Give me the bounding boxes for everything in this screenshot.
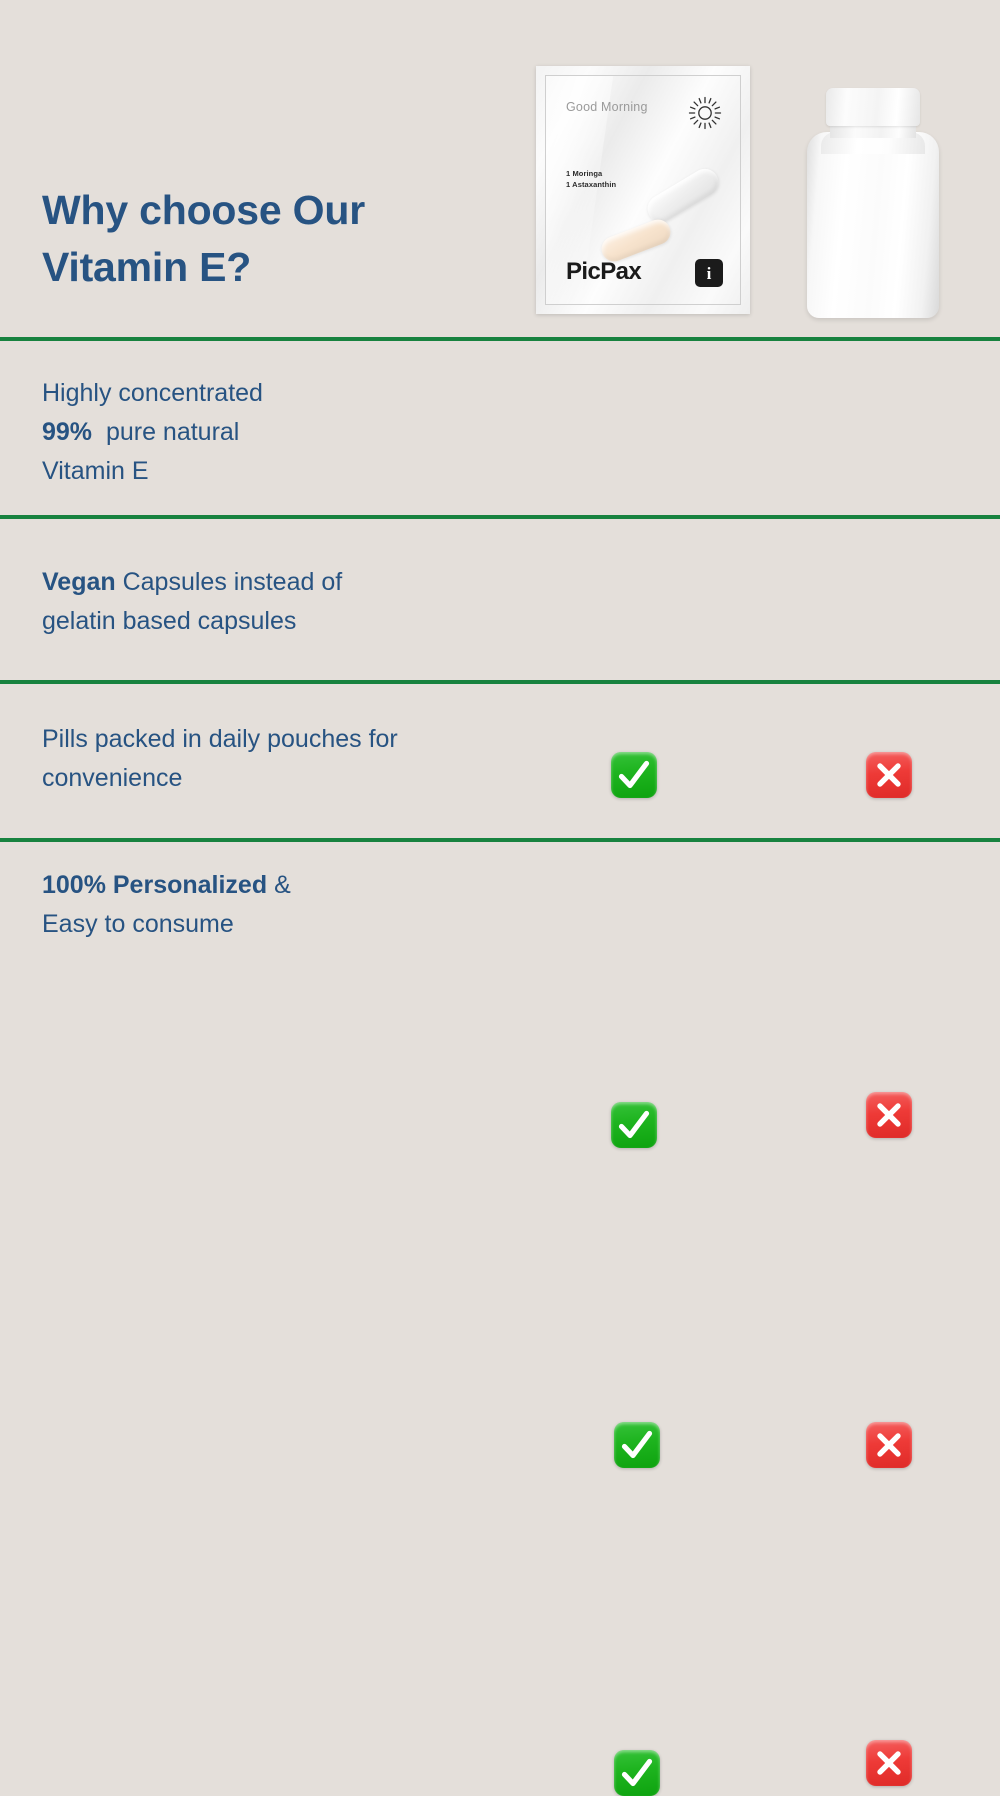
product-bottle xyxy=(807,88,939,318)
check-icon-ours xyxy=(611,1102,657,1148)
page-title: Why choose Our Vitamin E? xyxy=(42,182,482,296)
cross-icon-others xyxy=(866,1092,912,1138)
table-row: Vegan Capsules instead ofgelatin based c… xyxy=(0,519,1000,680)
info-badge-letter: i xyxy=(707,265,712,282)
product-sachet: Good Morning xyxy=(536,66,750,314)
feature-text: Vegan Capsules instead ofgelatin based c… xyxy=(42,563,542,641)
table-row: Pills packed in daily pouches forconveni… xyxy=(0,684,1000,838)
hero-section: Why choose Our Vitamin E? Good Morning xyxy=(0,0,1000,337)
feature-text: Pills packed in daily pouches forconveni… xyxy=(42,720,542,798)
check-icon-ours xyxy=(614,1422,660,1468)
sun-icon xyxy=(688,96,722,130)
sachet-ingredient-list: 1 Moringa 1 Astaxanthin xyxy=(566,168,616,190)
bottle-body xyxy=(807,132,939,318)
ingredient-item: 1 Astaxanthin xyxy=(566,179,616,190)
info-icon: i xyxy=(695,259,723,287)
white-capsule-icon xyxy=(643,164,724,227)
feature-text: Highly concentrated99% pure naturalVitam… xyxy=(42,374,542,491)
feature-text: 100% Personalized &Easy to consume xyxy=(42,866,542,944)
comparison-page: Why choose Our Vitamin E? Good Morning xyxy=(0,0,1000,1000)
check-icon-ours xyxy=(614,1750,660,1796)
ingredient-item: 1 Moringa xyxy=(566,168,616,179)
sachet-inner-border: Good Morning xyxy=(545,75,741,305)
table-row: 100% Personalized &Easy to consume xyxy=(0,842,1000,1000)
sachet-greeting-text: Good Morning xyxy=(566,100,648,114)
brand-logo: PicPax xyxy=(566,258,641,286)
cross-icon-others xyxy=(866,1422,912,1468)
bottle-cap xyxy=(826,88,920,126)
cross-icon-others xyxy=(866,1740,912,1786)
table-row: Highly concentrated99% pure naturalVitam… xyxy=(0,341,1000,515)
